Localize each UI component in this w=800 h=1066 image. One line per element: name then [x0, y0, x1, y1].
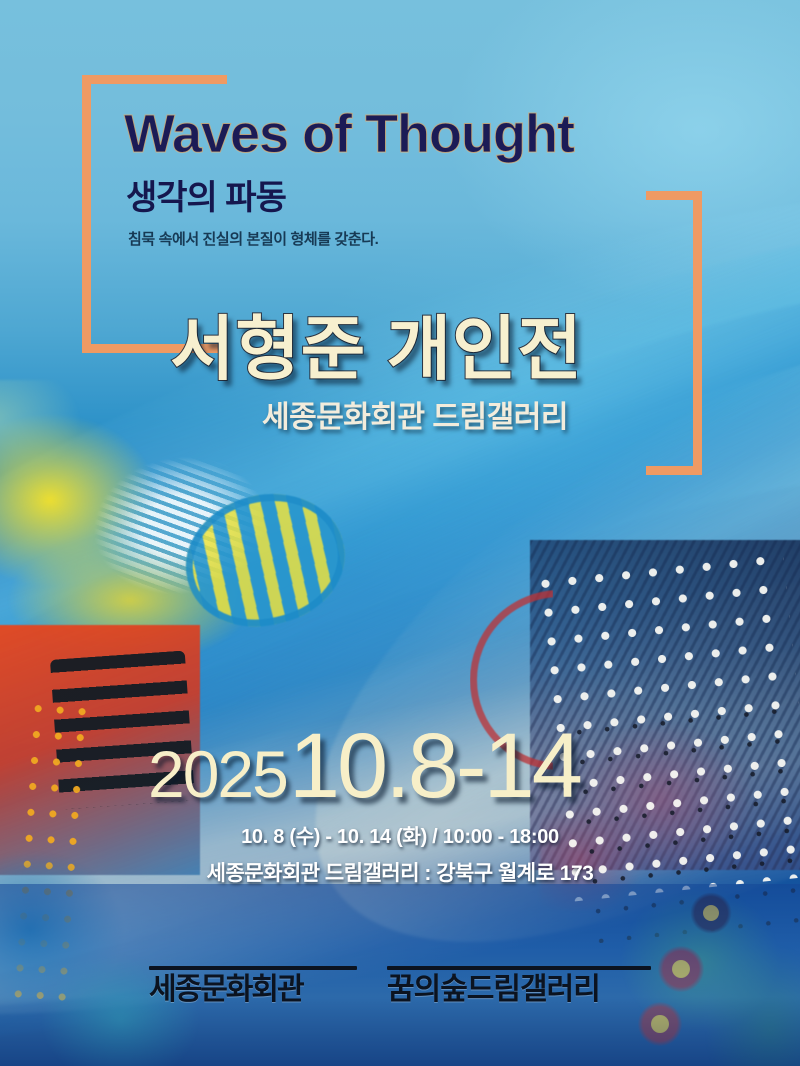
date-year: 2025 [148, 736, 287, 812]
artwork-flower-1 [690, 892, 732, 934]
artist-exhibition-title: 서형준 개인전 [170, 293, 583, 394]
logo-rule-icon [387, 966, 651, 970]
page-title-korean: 생각의 파동 [126, 170, 286, 219]
sejong-center-logo-text: 세종문화회관 [149, 974, 357, 1006]
exhibition-poster: Waves of Thought 생각의 파동 침묵 속에서 진실의 본질이 형… [0, 0, 800, 1066]
artwork-flower-3 [638, 1002, 682, 1046]
venue-name: 세종문화회관 드림갤러리 [262, 392, 568, 436]
tagline: 침묵 속에서 진실의 본질이 형체를 갖춘다. [128, 228, 378, 249]
sejong-center-logo: 세종문화회관 [149, 966, 357, 1006]
date-range: 10.8-14 [289, 714, 580, 819]
logo-row: 세종문화회관 꿈의숲드림갤러리 [0, 966, 800, 1006]
bracket-right-decor [646, 191, 702, 475]
dream-forest-gallery-logo-text: 꿈의숲드림갤러리 [387, 974, 651, 1006]
dream-forest-gallery-logo: 꿈의숲드림갤러리 [387, 966, 651, 1006]
page-title-english: Waves of Thought [124, 103, 574, 165]
date-headline: 2025 10.8-14 [148, 714, 580, 819]
schedule-detail: 10. 8 (수) - 10. 14 (화) / 10:00 - 18:00 [0, 820, 800, 849]
logo-rule-icon [149, 966, 357, 970]
address-detail: 세종문화회관 드림갤러리 : 강북구 월계로 173 [0, 857, 800, 887]
